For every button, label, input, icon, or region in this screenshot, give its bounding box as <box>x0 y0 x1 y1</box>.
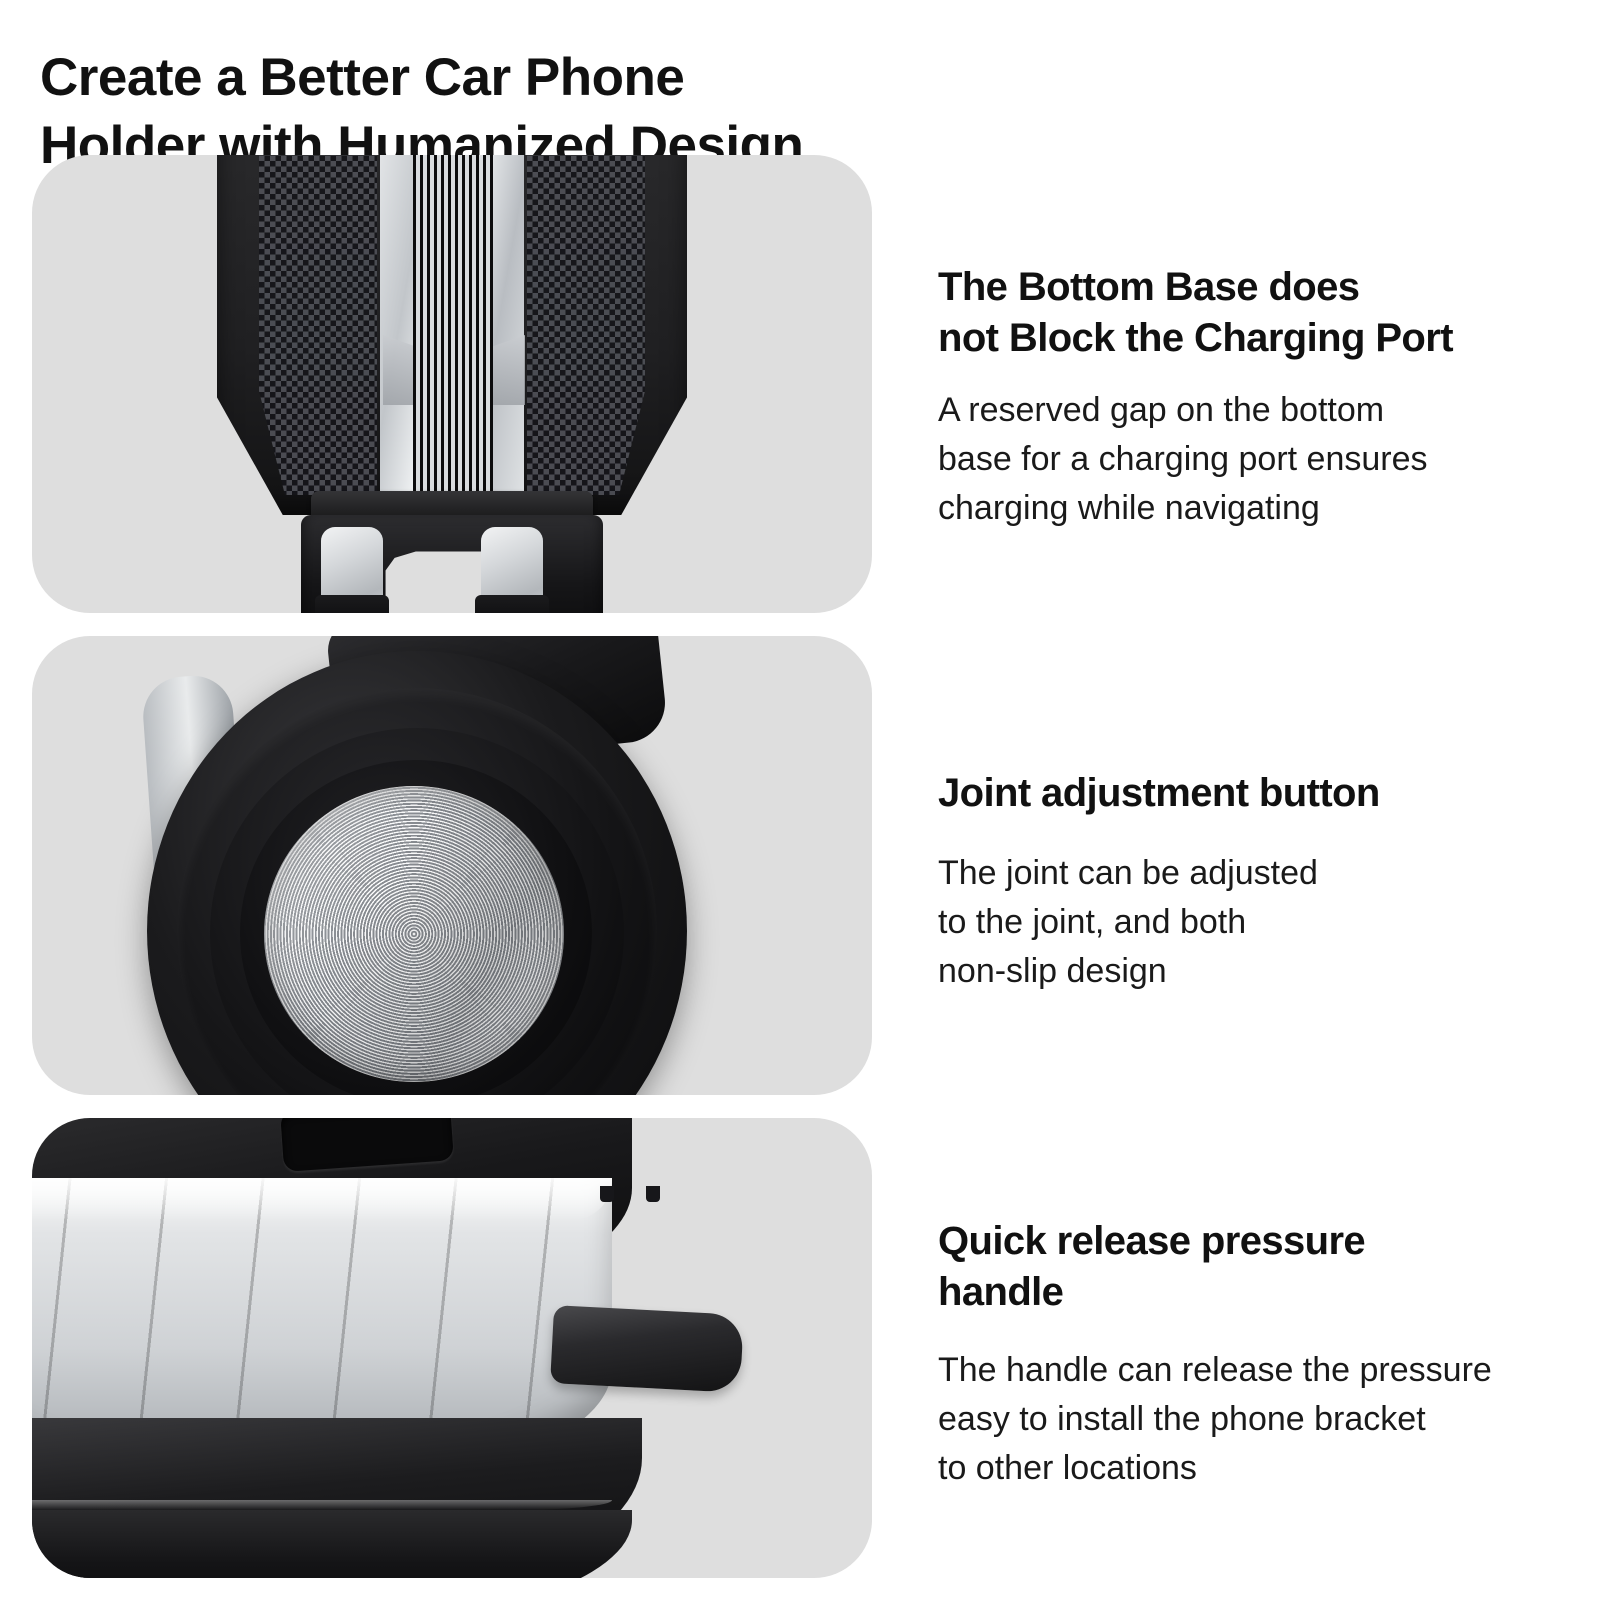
feature-heading: Joint adjustment button <box>938 768 1558 819</box>
bottom-base-foot-left <box>315 595 389 613</box>
feature-body: A reserved gap on the bottom base for a … <box>938 386 1558 533</box>
phone-holder-bottom-base-photo <box>32 155 872 613</box>
suction-base-rim-highlight <box>32 1500 612 1510</box>
cradle-center-ribs <box>413 155 493 495</box>
feature-image-panel-release-handle <box>32 1118 872 1578</box>
suction-base-graphic <box>32 1118 872 1578</box>
quick-release-handle-notch-right <box>646 1186 660 1202</box>
feature-heading: Quick release pressure handle <box>938 1216 1558 1318</box>
quick-release-pressure-handle-photo <box>32 1118 872 1578</box>
joint-graphic <box>32 636 872 1095</box>
feature-image-panel-bottom-base <box>32 155 872 613</box>
phone-holder-cradle-graphic <box>217 155 687 535</box>
suction-base-drum-highlight <box>32 1178 612 1220</box>
carbon-fiber-texture-left <box>259 155 377 495</box>
feature-body: The joint can be adjusted to the joint, … <box>938 849 1558 996</box>
feature-heading: The Bottom Base does not Block the Charg… <box>938 262 1558 364</box>
carbon-fiber-texture-right <box>527 155 645 495</box>
quick-release-handle-tab <box>550 1305 744 1393</box>
feature-image-panel-joint-button <box>32 636 872 1095</box>
bottom-base-foot-right <box>475 595 549 613</box>
quick-release-handle-notch-left <box>600 1186 614 1202</box>
joint-adjustment-button-disc <box>264 786 564 1082</box>
feature-text-joint-button: Joint adjustment button The joint can be… <box>938 768 1558 996</box>
feature-text-release-handle: Quick release pressure handle The handle… <box>938 1216 1558 1493</box>
suction-base-bottom-rim <box>32 1510 632 1578</box>
feature-body: The handle can release the pressure easy… <box>938 1346 1558 1493</box>
joint-adjustment-button-photo <box>32 636 872 1095</box>
feature-text-bottom-base: The Bottom Base does not Block the Charg… <box>938 262 1558 533</box>
